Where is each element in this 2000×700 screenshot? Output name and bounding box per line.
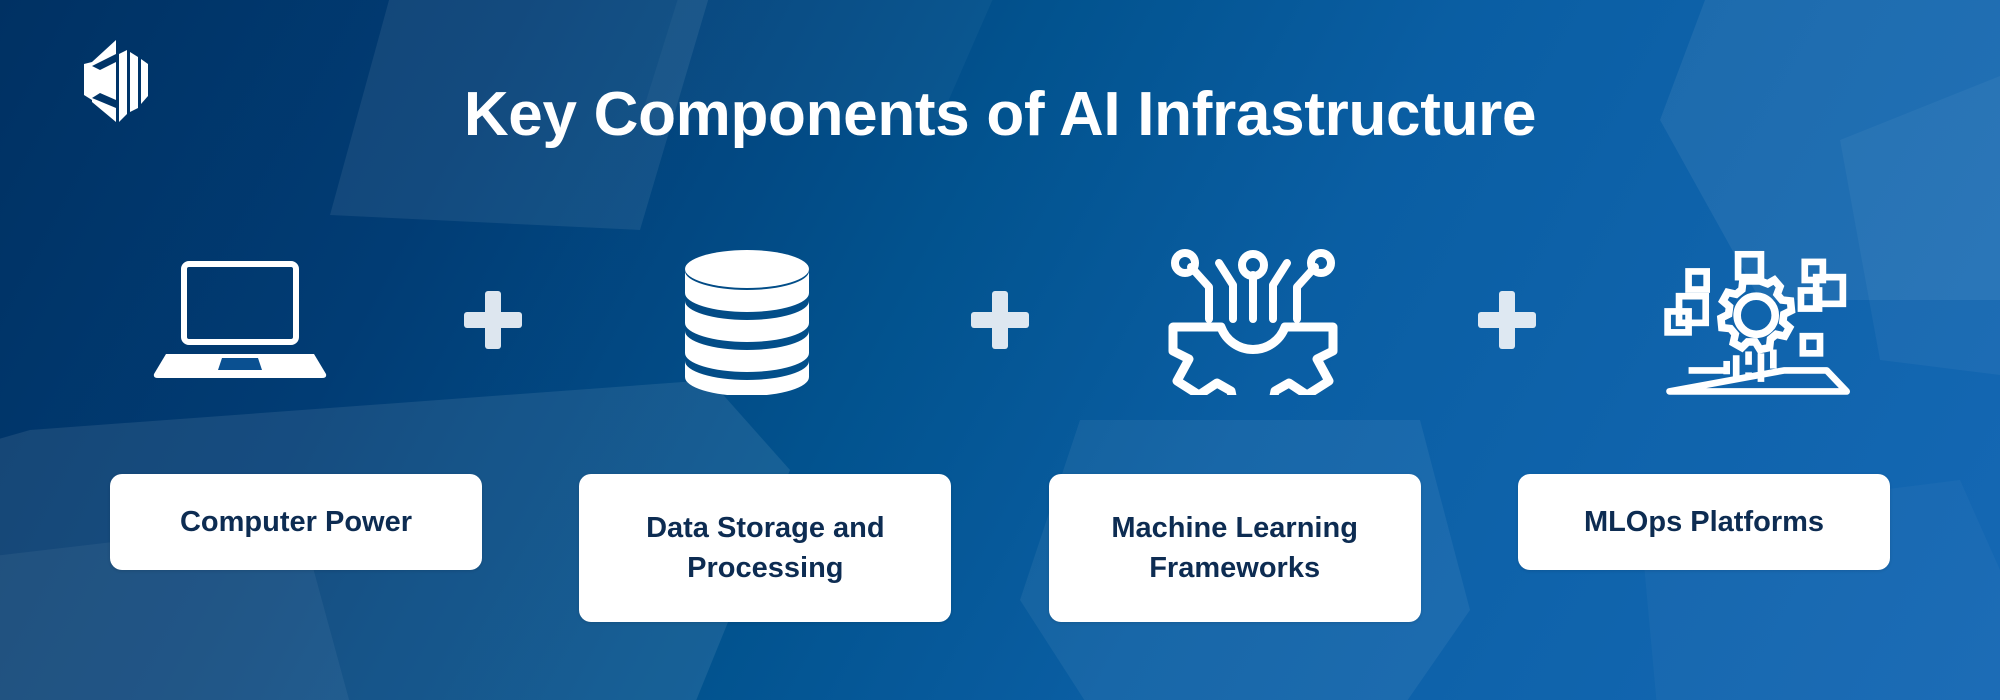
card-label-line-1: Machine Learning xyxy=(1111,512,1358,544)
page-title: Key Components of AI Infrastructure xyxy=(0,84,2000,146)
icon-cell-data-storage xyxy=(647,250,847,390)
db-top-disc xyxy=(685,250,809,288)
card-mlops-platforms[interactable]: MLOps Platforms xyxy=(1518,474,1890,570)
circuit-trace-inner-right xyxy=(1273,263,1287,319)
card-label-line-2: Frameworks xyxy=(1149,552,1320,584)
card-label: Computer Power xyxy=(180,502,412,542)
card-label-line-1: Data Storage and xyxy=(646,512,885,544)
logo-facet-top-left xyxy=(92,40,116,66)
circuit-node-left xyxy=(1175,253,1195,273)
card-computer-power[interactable]: Computer Power xyxy=(110,474,482,570)
card-label: Machine Learning Frameworks xyxy=(1111,508,1358,588)
gear-circuit-icon xyxy=(1153,245,1353,395)
card-ml-frameworks[interactable]: Machine Learning Frameworks xyxy=(1049,474,1421,622)
laptop-trackpad-notch xyxy=(218,358,262,370)
card-label: MLOps Platforms xyxy=(1584,502,1824,542)
mlops-gear-laptop-icon xyxy=(1660,245,1860,395)
label-card-row: Computer Power Data Storage and Processi… xyxy=(110,474,1890,634)
card-label: Data Storage and Processing xyxy=(646,508,885,588)
plus-icon-3 xyxy=(1472,285,1542,355)
node-square-top xyxy=(1738,254,1761,277)
database-stack-icon xyxy=(647,245,847,395)
mlops-gear xyxy=(1721,280,1791,350)
plus-icon-1 xyxy=(458,285,528,355)
gear-body xyxy=(1173,327,1333,395)
icon-cell-ml-frameworks xyxy=(1153,250,1353,390)
circuit-node-center xyxy=(1242,254,1264,276)
circuit-node-right xyxy=(1311,253,1331,273)
infographic-canvas: Key Components of AI Infrastructure xyxy=(0,0,2000,700)
card-label-line-2: Processing xyxy=(687,552,843,584)
card-data-storage[interactable]: Data Storage and Processing xyxy=(579,474,951,622)
laptop-icon xyxy=(140,250,340,390)
circuit-trace-outer-right xyxy=(1297,267,1315,319)
plus-icon-2 xyxy=(965,285,1035,355)
node-square-left-small xyxy=(1689,271,1707,289)
icon-cell-computer-power xyxy=(140,250,340,390)
node-square-mid-right xyxy=(1803,336,1820,353)
circuit-trace-inner-left xyxy=(1219,263,1233,319)
icon-cell-mlops xyxy=(1660,250,1860,390)
circuit-trace-outer-left xyxy=(1191,267,1209,319)
node-square-right-low xyxy=(1801,290,1819,308)
icon-row xyxy=(140,250,1860,390)
